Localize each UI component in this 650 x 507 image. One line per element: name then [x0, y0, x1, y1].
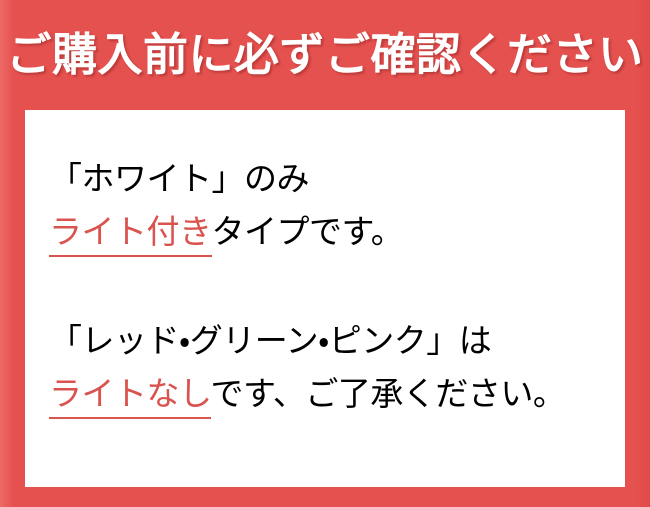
paragraph-1-line-1: 「ホワイト」のみ: [49, 152, 619, 205]
paragraph-2-line-1: 「レッド・グリーン・ピンク」は: [49, 314, 619, 367]
emphasis-light-not-included: ライトなし: [49, 375, 211, 419]
paragraph-2-line-2-rest: です、ご了承ください。: [211, 375, 566, 412]
paragraph-1-line-2-rest: タイプです。: [212, 213, 404, 250]
notice-card: 「ホワイト」のみ ライト付きタイプです。 「レッド・グリーン・ピンク」は ライト…: [25, 110, 625, 487]
purchase-notice-banner: ご購入前に必ずご確認ください 「ホワイト」のみ ライト付きタイプです。 「レッド…: [0, 0, 650, 507]
notice-paragraph-colors: 「レッド・グリーン・ピンク」は ライトなしです、ご了承ください。: [49, 314, 619, 420]
banner-heading: ご購入前に必ずご確認ください: [0, 22, 650, 88]
notice-paragraph-white: 「ホワイト」のみ ライト付きタイプです。: [49, 152, 619, 258]
paragraph-1-line-2: ライト付きタイプです。: [49, 205, 619, 258]
paragraph-2-line-2: ライトなしです、ご了承ください。: [49, 367, 619, 420]
emphasis-light-included: ライト付き: [49, 213, 212, 257]
notice-body: 「ホワイト」のみ ライト付きタイプです。 「レッド・グリーン・ピンク」は ライト…: [49, 152, 619, 420]
